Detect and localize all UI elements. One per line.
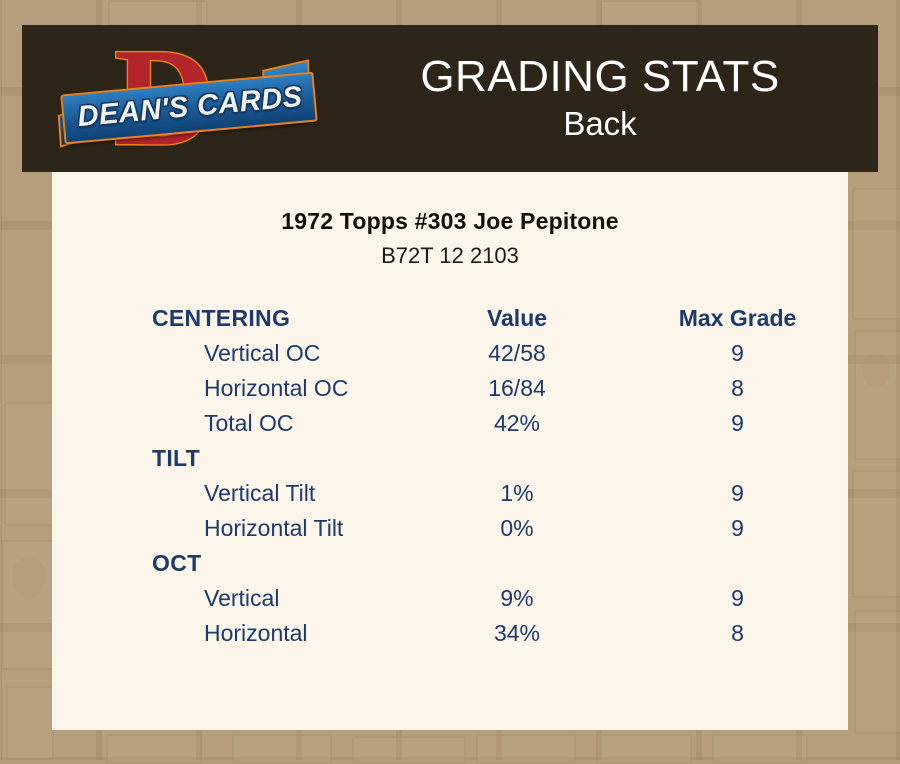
grading-stats-page: D D DEAN'S CARDS GRADING STATS Back 1972… — [0, 0, 900, 760]
section-header-row: TILT — [52, 441, 848, 476]
stat-label: Horizontal OC — [52, 371, 407, 406]
stat-max-grade: 9 — [627, 581, 848, 616]
stat-max-grade: 9 — [627, 476, 848, 511]
table-row: Horizontal34%8 — [52, 616, 848, 651]
stat-label: Horizontal — [52, 616, 407, 651]
section-title: OCT — [52, 546, 407, 581]
stat-value: 16/84 — [407, 371, 627, 406]
section-header-row: OCT — [52, 546, 848, 581]
stat-value: 42/58 — [407, 336, 627, 371]
page-title: GRADING STATS — [420, 54, 779, 100]
stat-label: Horizontal Tilt — [52, 511, 407, 546]
background-card — [852, 188, 900, 320]
background-card — [852, 470, 900, 598]
background-blob — [12, 556, 46, 598]
header-title-block: GRADING STATS Back — [322, 25, 878, 172]
background-card — [108, 0, 208, 26]
stat-value: 1% — [407, 476, 627, 511]
section-title: TILT — [52, 441, 407, 476]
table-row: Total OC42%9 — [52, 406, 848, 441]
stat-max-grade: 9 — [627, 511, 848, 546]
stat-value: 9% — [407, 581, 627, 616]
stat-value: 34% — [407, 616, 627, 651]
background-card — [6, 686, 54, 760]
section-header-row: CENTERINGValueMax Grade — [52, 301, 848, 336]
stat-max-grade: 8 — [627, 371, 848, 406]
background-blob — [862, 352, 890, 388]
table-row: Vertical OC42/589 — [52, 336, 848, 371]
stat-label: Vertical OC — [52, 336, 407, 371]
table-row: Vertical Tilt1%9 — [52, 476, 848, 511]
stat-max-grade: 9 — [627, 336, 848, 371]
column-header-max-grade: Max Grade — [627, 301, 848, 336]
background-card — [600, 0, 700, 26]
page-header: D D DEAN'S CARDS GRADING STATS Back — [22, 25, 878, 172]
table-row: Vertical9%9 — [52, 581, 848, 616]
card-title: 1972 Topps #303 Joe Pepitone — [52, 208, 848, 235]
stat-value: 42% — [407, 406, 627, 441]
stat-label: Total OC — [52, 406, 407, 441]
grading-stats-table: CENTERINGValueMax GradeVertical OC42/589… — [52, 301, 848, 651]
stat-max-grade: 8 — [627, 616, 848, 651]
deans-cards-logo[interactable]: D D DEAN'S CARDS — [62, 31, 318, 171]
page-subtitle: Back — [563, 106, 636, 142]
column-header-value: Value — [407, 301, 627, 336]
table-row: Horizontal OC16/848 — [52, 371, 848, 406]
table-row: Horizontal Tilt0%9 — [52, 511, 848, 546]
stat-max-grade: 9 — [627, 406, 848, 441]
stat-value: 0% — [407, 511, 627, 546]
background-card — [4, 402, 54, 526]
card-identifier: B72T 12 2103 — [52, 243, 848, 269]
content-panel: 1972 Topps #303 Joe Pepitone B72T 12 210… — [52, 172, 848, 730]
section-title: CENTERING — [52, 301, 407, 336]
stat-label: Vertical Tilt — [52, 476, 407, 511]
background-card — [854, 610, 900, 734]
stat-label: Vertical — [52, 581, 407, 616]
background-card — [854, 330, 900, 460]
